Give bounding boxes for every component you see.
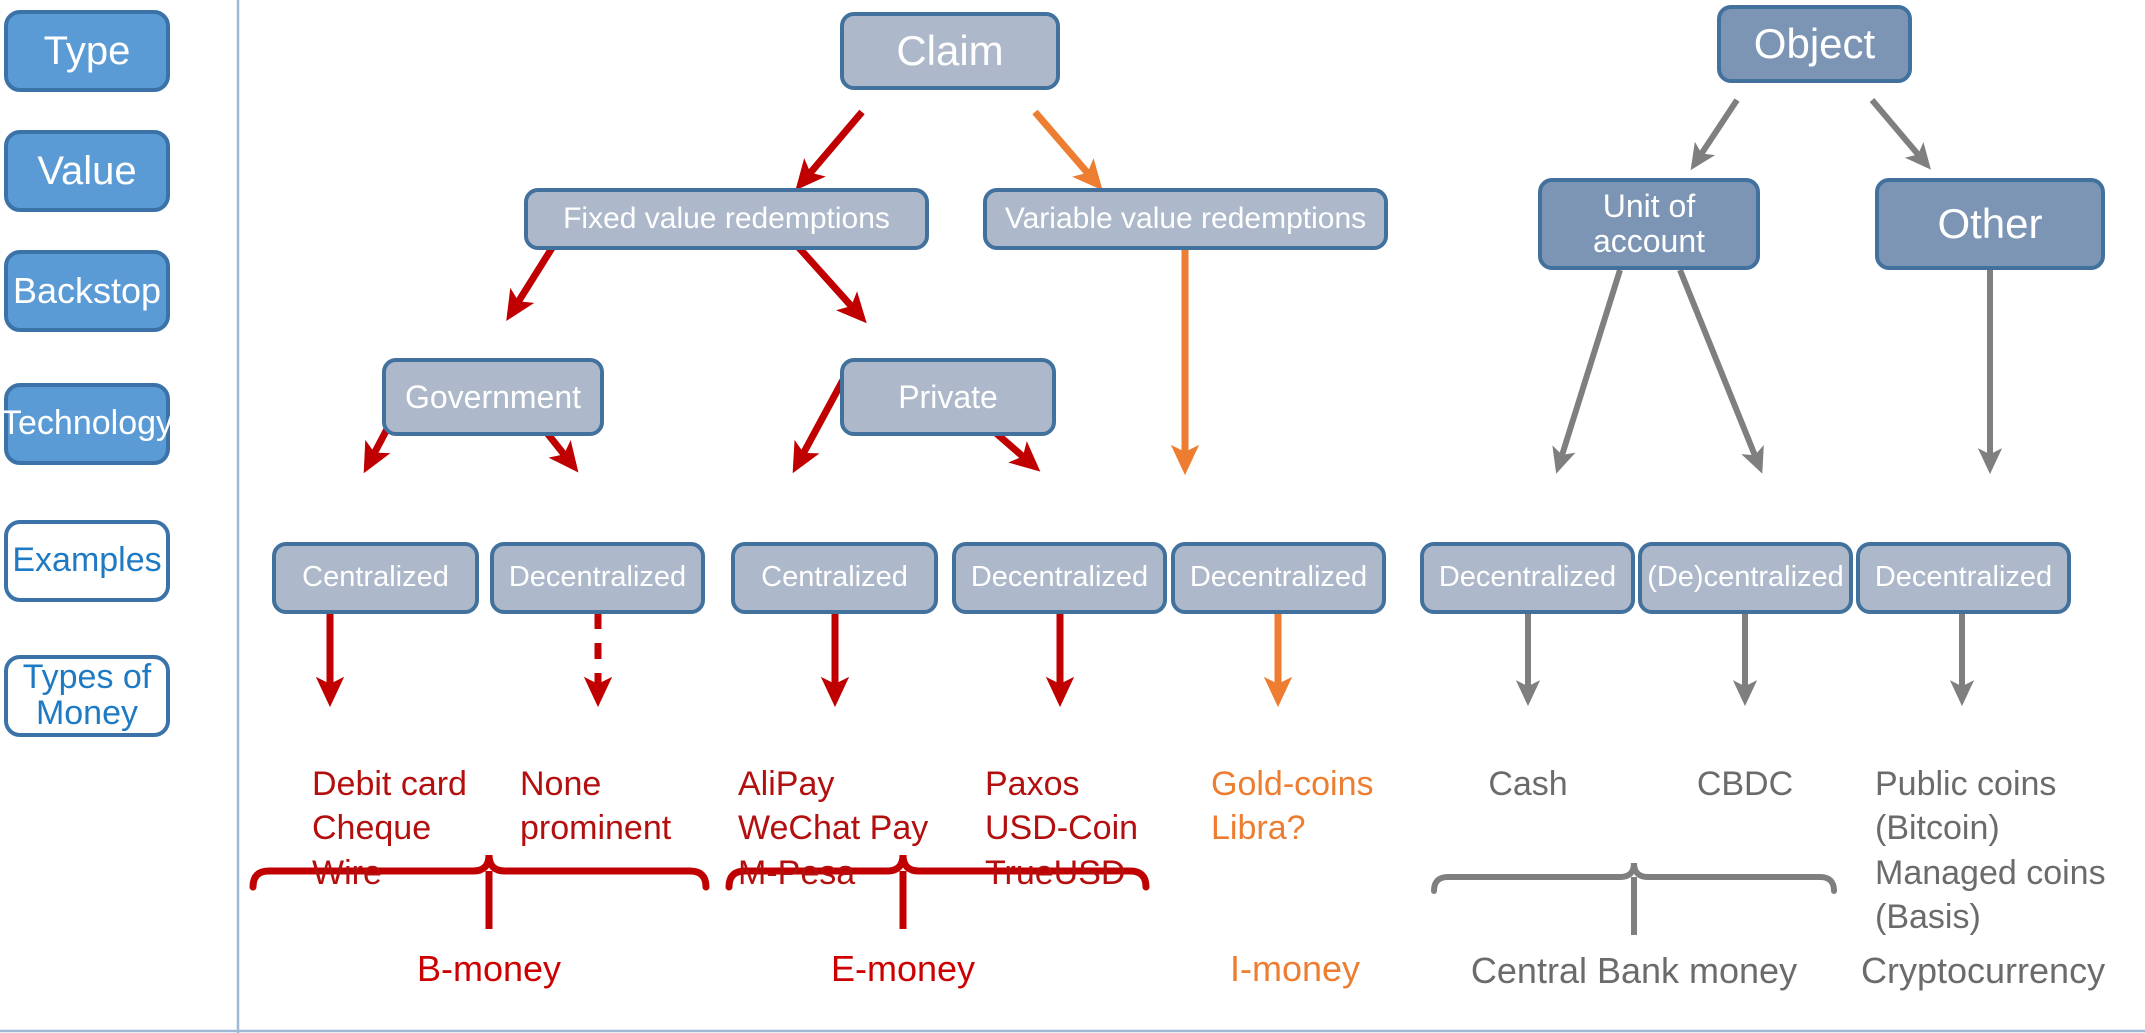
node-government[interactable]: Government [382, 358, 604, 436]
money-type-central-bank-money: Central Bank money [1454, 950, 1814, 992]
node-technology-centralized-gov[interactable]: Centralized [272, 542, 479, 614]
node-technology-decentralized-gov[interactable]: Decentralized [490, 542, 705, 614]
node-private[interactable]: Private [840, 358, 1056, 436]
money-type-label: B-money [417, 948, 561, 989]
example-cryptocurrency: Public coins (Bitcoin) Managed coins (Ba… [1875, 718, 2106, 939]
node-technology-centralized-priv[interactable]: Centralized [731, 542, 938, 614]
money-type-i-money: I-money [1195, 948, 1395, 990]
example-cash: Cash [1453, 718, 1603, 806]
row-label-type: Type [4, 10, 170, 92]
node-label: Variable value redemptions [1005, 203, 1366, 235]
edge-private-centralized [796, 380, 843, 467]
example-b-money-decentralized: None prominent [520, 718, 671, 851]
node-label: Fixed value redemptions [563, 203, 890, 235]
node-label: Private [898, 380, 998, 415]
edge-unit-decentralized [1558, 270, 1620, 468]
node-unit-of-account[interactable]: Unit of account [1538, 178, 1760, 270]
node-label: Claim [896, 28, 1003, 73]
row-label-value: Value [4, 130, 170, 212]
row-label-text: Backstop [13, 272, 161, 310]
example-text: Debit card Cheque Wire [312, 765, 467, 891]
example-text: None prominent [520, 765, 671, 847]
money-type-e-money: E-money [803, 948, 1003, 990]
row-label-technology: Technology [4, 383, 170, 465]
example-text: Gold-coins Libra? [1211, 765, 1374, 847]
node-technology-de-centralized-unit[interactable]: (De)centralized [1638, 542, 1853, 614]
row-label-text: Technology [1, 406, 173, 442]
node-label: Decentralized [971, 562, 1148, 593]
edge-unit-decentralized-2 [1680, 270, 1760, 468]
row-label-text: Examples [12, 543, 161, 579]
example-text: AliPay WeChat Pay M-Pesa [738, 765, 928, 891]
node-technology-decentralized-unit[interactable]: Decentralized [1420, 542, 1635, 614]
example-text: CBDC [1697, 765, 1793, 803]
edge-claim-variable [1035, 112, 1098, 185]
row-label-examples: Examples [4, 520, 170, 602]
row-label-text: Type [44, 30, 131, 72]
money-type-label: Central Bank money [1471, 950, 1797, 991]
edge-object-unit [1694, 100, 1737, 165]
node-variable-value-redemptions[interactable]: Variable value redemptions [983, 188, 1388, 250]
node-technology-decentralized-other[interactable]: Decentralized [1856, 542, 2071, 614]
example-cbdc: CBDC [1670, 718, 1820, 806]
node-technology-decentralized-priv[interactable]: Decentralized [952, 542, 1167, 614]
money-tree-diagram: Type Value Backstop Technology Examples … [0, 0, 2145, 1033]
money-type-label: Cryptocurrency [1861, 950, 2105, 991]
example-text: Paxos USD-Coin TrueUSD [985, 765, 1138, 891]
node-label: Centralized [302, 562, 449, 593]
example-e-money-decentralized: Paxos USD-Coin TrueUSD [985, 718, 1138, 895]
node-label: Decentralized [1439, 562, 1616, 593]
node-technology-decentralized-variable[interactable]: Decentralized [1171, 542, 1386, 614]
node-other[interactable]: Other [1875, 178, 2105, 270]
example-text: Public coins (Bitcoin) Managed coins (Ba… [1875, 765, 2106, 936]
node-label: Government [405, 380, 581, 415]
node-label: Unit of account [1593, 189, 1705, 258]
edge-object-other [1872, 100, 1927, 165]
row-label-text: Types of Money [23, 660, 152, 731]
money-type-label: E-money [831, 948, 975, 989]
example-b-money-centralized: Debit card Cheque Wire [312, 718, 467, 895]
row-label-backstop: Backstop [4, 250, 170, 332]
node-fixed-value-redemptions[interactable]: Fixed value redemptions [524, 188, 929, 250]
money-type-cryptocurrency: Cryptocurrency [1861, 950, 2141, 992]
node-label: Object [1754, 21, 1875, 66]
example-text: Cash [1488, 765, 1567, 803]
edge-fixed-government [510, 240, 557, 315]
node-label: Centralized [761, 562, 908, 593]
edge-claim-fixed [800, 112, 862, 185]
brace-central-bank-money [1434, 863, 1834, 891]
node-object[interactable]: Object [1717, 5, 1912, 83]
node-label: Decentralized [1875, 562, 2052, 593]
node-label: Other [1937, 201, 2042, 246]
money-type-label: I-money [1230, 948, 1360, 989]
node-label: Decentralized [509, 562, 686, 593]
node-label: Decentralized [1190, 562, 1367, 593]
example-e-money-centralized: AliPay WeChat Pay M-Pesa [738, 718, 928, 895]
example-i-money: Gold-coins Libra? [1211, 718, 1374, 851]
row-label-text: Value [37, 150, 136, 192]
node-label: (De)centralized [1647, 562, 1844, 593]
money-type-b-money: B-money [389, 948, 589, 990]
row-label-types-of-money: Types of Money [4, 655, 170, 737]
node-claim[interactable]: Claim [840, 12, 1060, 90]
edge-fixed-private [792, 240, 862, 318]
